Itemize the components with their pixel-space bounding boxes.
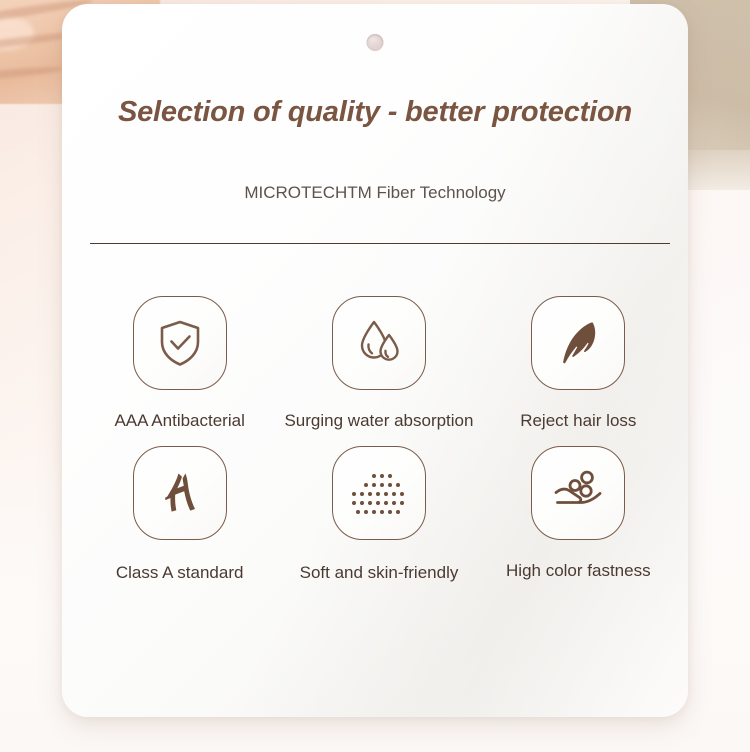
icon-container — [531, 446, 625, 540]
icon-container — [332, 296, 426, 390]
icon-container — [133, 446, 227, 540]
feature-item: Surging water absorption — [279, 296, 478, 432]
hang-tag-card: Selection of quality - better protection… — [62, 4, 688, 717]
dot-grid-icon — [349, 470, 409, 516]
finger-crease — [0, 65, 64, 83]
feature-grid: AAA Antibacterial Surging water absorpti… — [80, 296, 678, 585]
feature-label: AAA Antibacterial — [85, 410, 275, 432]
water-drops-icon — [351, 315, 407, 371]
icon-container — [531, 296, 625, 390]
hand-coins-icon — [549, 467, 607, 519]
page-subtitle: MICROTECHTM Fiber Technology — [62, 183, 688, 203]
product-tag-scene: Selection of quality - better protection… — [0, 0, 750, 752]
feather-icon — [550, 315, 606, 371]
feature-label: Class A standard — [85, 562, 275, 584]
feature-item: Reject hair loss — [479, 296, 678, 432]
punch-hole — [367, 34, 384, 51]
shield-check-icon — [152, 315, 208, 371]
feature-label: Reject hair loss — [483, 410, 673, 432]
feature-item: Class A standard — [80, 446, 279, 584]
feature-label: Soft and skin-friendly — [284, 562, 474, 584]
feature-label: High color fastness — [483, 560, 673, 582]
feature-item: High color fastness — [479, 446, 678, 584]
feature-item: Soft and skin-friendly — [279, 446, 478, 584]
letter-a-icon — [152, 465, 208, 521]
feature-label: Surging water absorption — [284, 410, 474, 432]
page-title: Selection of quality - better protection — [62, 96, 688, 129]
icon-container — [133, 296, 227, 390]
icon-container — [332, 446, 426, 540]
header-divider — [90, 243, 670, 244]
feature-item: AAA Antibacterial — [80, 296, 279, 432]
